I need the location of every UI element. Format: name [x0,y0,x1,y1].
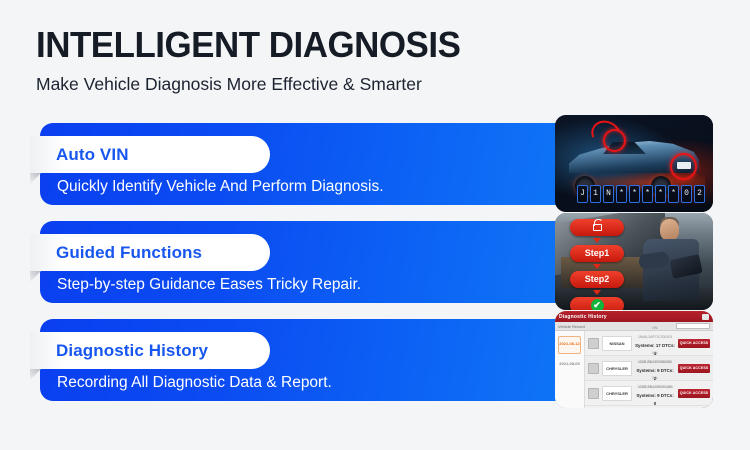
header: INTELLIGENT DIAGNOSIS Make Vehicle Diagn… [36,24,474,96]
history-body: 2021-08-12 2021-08-05 NISSAN VIN: 1N4AL3… [555,331,713,408]
feature-row[interactable]: Diagnostic History Recording All Diagnos… [0,319,750,401]
history-sort-select[interactable] [676,323,710,329]
page-title: INTELLIGENT DIAGNOSIS [36,24,460,66]
feature-title: Auto VIN [56,145,129,165]
history-date-sidebar: 2021-08-12 2021-08-05 [555,331,585,408]
history-row-list: NISSAN VIN: 1N4AL3AP7JC200103 Systems: 1… [585,331,713,408]
vehicle-make: NISSAN [602,336,632,351]
feature-title: Diagnostic History [56,341,208,361]
row-vin: VIN: 1N4AL3AP7JC200103 [638,326,672,339]
feature-description: Recording All Diagnostic Data & Report. [57,374,332,392]
vehicle-thumb-icon [588,388,599,399]
vin-char: * [642,185,653,203]
history-date-item[interactable]: 2021-08-05 [558,356,581,374]
row-vin: VIN: 1C4RJFBG0EC501288 [637,376,672,389]
feature-thumbnail-auto-vin[interactable]: J 1 N * * * * * 0 2 [555,115,713,212]
vin-char: N [603,185,614,203]
vin-plate-tag [677,162,691,169]
row-vin: VIN: 1C4RJFAG8FC804371 [638,351,673,364]
feature-title: Guided Functions [56,243,202,263]
step-pill-complete: ✔ [570,297,624,310]
quick-access-button[interactable]: QUICK ACCESS [678,339,710,348]
vin-char: J [577,185,588,203]
vehicle-thumb-icon [588,363,599,374]
car-scene: J 1 N * * * * * 0 2 [555,115,713,212]
feature-ribbon: Auto VIN [30,136,270,173]
vin-char: * [629,185,640,203]
flow-arrow-icon [593,238,601,243]
vin-char: * [668,185,679,203]
vin-char: 1 [590,185,601,203]
page-subtitle: Make Vehicle Diagnosis More Effective & … [36,72,474,96]
feature-ribbon: Guided Functions [30,234,270,271]
step-pill-2: Step2 [570,271,624,288]
vin-character-strip: J 1 N * * * * * 0 2 [577,185,705,203]
row-system: Systems: 9 DTCs: 0 [636,393,673,406]
history-window-title: Diagnostic History [559,314,607,320]
feature-ribbon: Diagnostic History [30,332,270,369]
vehicle-make: CHRYSLER [602,386,632,401]
unlock-icon [593,224,602,231]
table-row[interactable]: CHRYSLER VIN: 1C4RJFBG0EC501288 Systems:… [585,381,713,406]
history-date-item[interactable]: 2021-08-12 [558,336,581,354]
flow-arrow-icon [593,290,601,295]
vin-char: 0 [681,185,692,203]
history-toolbar-label: Vehicle Record [558,324,585,329]
feature-thumbnail-diagnostic-history[interactable]: Diagnostic History Vehicle Record 2021-0… [555,311,713,408]
history-app-screenshot: Diagnostic History Vehicle Record 2021-0… [555,311,713,408]
history-toolbar: Vehicle Record [555,322,713,331]
feature-description: Step-by-step Guidance Eases Tricky Repai… [57,276,361,294]
feature-thumbnail-guided-functions[interactable]: Step1 Step2 ✔ [555,213,713,310]
quick-access-button[interactable]: QUICK ACCESS [678,364,710,373]
feature-row[interactable]: Guided Functions Step-by-step Guidance E… [0,221,750,303]
mechanic-head [660,219,679,241]
row-meta: VIN: 1C4RJFBG0EC501288 Systems: 9 DTCs: … [635,372,675,409]
vehicle-make: CHRYSLER [602,361,632,376]
feature-list: Auto VIN Quickly Identify Vehicle And Pe… [0,123,750,417]
vin-char: 2 [694,185,705,203]
vin-windshield-highlight-icon [603,129,626,152]
step-pill-1: Step1 [570,245,624,262]
vehicle-thumb-icon [588,338,599,349]
step-pill-unlock [570,219,624,236]
vin-char: * [655,185,666,203]
flow-arrow-icon [593,264,601,269]
check-icon: ✔ [591,299,604,310]
feature-description: Quickly Identify Vehicle And Perform Dia… [57,178,384,196]
vin-char: * [616,185,627,203]
quick-access-button[interactable]: QUICK ACCESS [678,389,710,398]
history-window-control-icon [702,314,709,320]
workshop-scene: Step1 Step2 ✔ [555,213,713,310]
feature-row[interactable]: Auto VIN Quickly Identify Vehicle And Pe… [0,123,750,205]
guided-step-flow: Step1 Step2 ✔ [569,219,625,310]
history-titlebar: Diagnostic History [555,311,713,322]
